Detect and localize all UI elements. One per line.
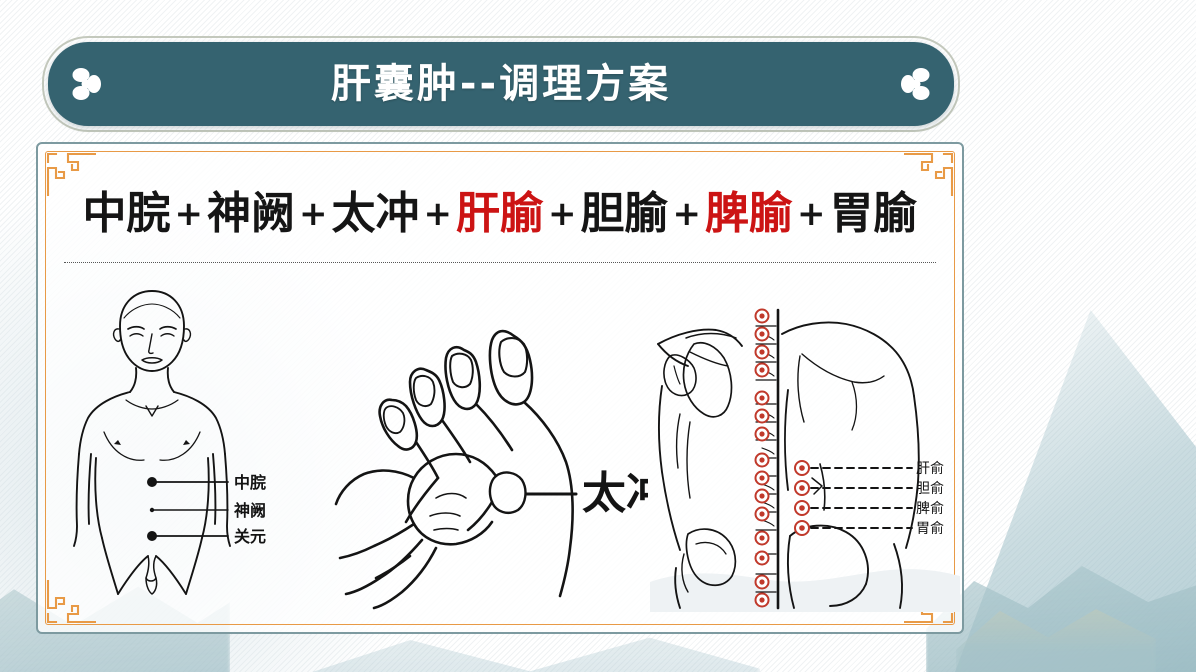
formula-plus: + — [295, 194, 332, 234]
illustration-row: 中脘 神阙 关元 — [46, 276, 954, 618]
formula-token: 胃腧 — [830, 188, 918, 239]
title-banner-body: 肝囊肿--调理方案 — [48, 42, 954, 126]
back-label: 肝俞 — [916, 460, 944, 477]
trefoil-flourish-icon — [66, 62, 106, 106]
formula-plus: + — [544, 194, 581, 234]
formula-plus: + — [171, 194, 208, 234]
content-frame: 中脘+神阙+太冲+肝腧+胆腧+脾腧+胃腧 — [36, 142, 964, 634]
acupoint-formula: 中脘+神阙+太冲+肝腧+胆腧+脾腧+胃腧 — [38, 192, 962, 236]
formula-token: 肝腧 — [456, 188, 544, 239]
torso-label: 关元 — [234, 527, 266, 546]
slide-root: 肝囊肿--调理方案 — [0, 0, 1196, 672]
formula-token: 脾腧 — [705, 188, 793, 239]
formula-token: 太冲 — [332, 188, 420, 239]
formula-token: 胆腧 — [581, 188, 669, 239]
formula-token: 神阙 — [207, 188, 295, 239]
back-label: 脾俞 — [916, 500, 944, 517]
page-title: 肝囊肿--调理方案 — [331, 64, 671, 104]
formula-plus: + — [793, 194, 830, 234]
formula-plus: + — [669, 194, 706, 234]
mountain-mid-right — [926, 536, 1196, 672]
title-banner: 肝囊肿--调理方案 — [48, 42, 954, 126]
posterior-back-spine-diagram: 肝俞 胆俞 脾俞 胃俞 — [650, 276, 960, 618]
taichong-callout-label: 太冲 — [582, 468, 648, 519]
torso-label: 中脘 — [234, 473, 266, 492]
mountain-accent-right — [956, 588, 1156, 672]
formula-plus: + — [420, 194, 457, 234]
torso-label: 神阙 — [234, 501, 266, 520]
formula-divider — [64, 262, 936, 263]
formula-token: 中脘 — [83, 188, 171, 239]
foot-taichong-diagram: 太冲 — [318, 276, 648, 618]
back-label: 胃俞 — [916, 520, 944, 537]
trefoil-flourish-icon — [896, 62, 936, 106]
back-label: 胆俞 — [916, 480, 944, 497]
anterior-torso-diagram: 中脘 神阙 关元 — [60, 276, 310, 618]
